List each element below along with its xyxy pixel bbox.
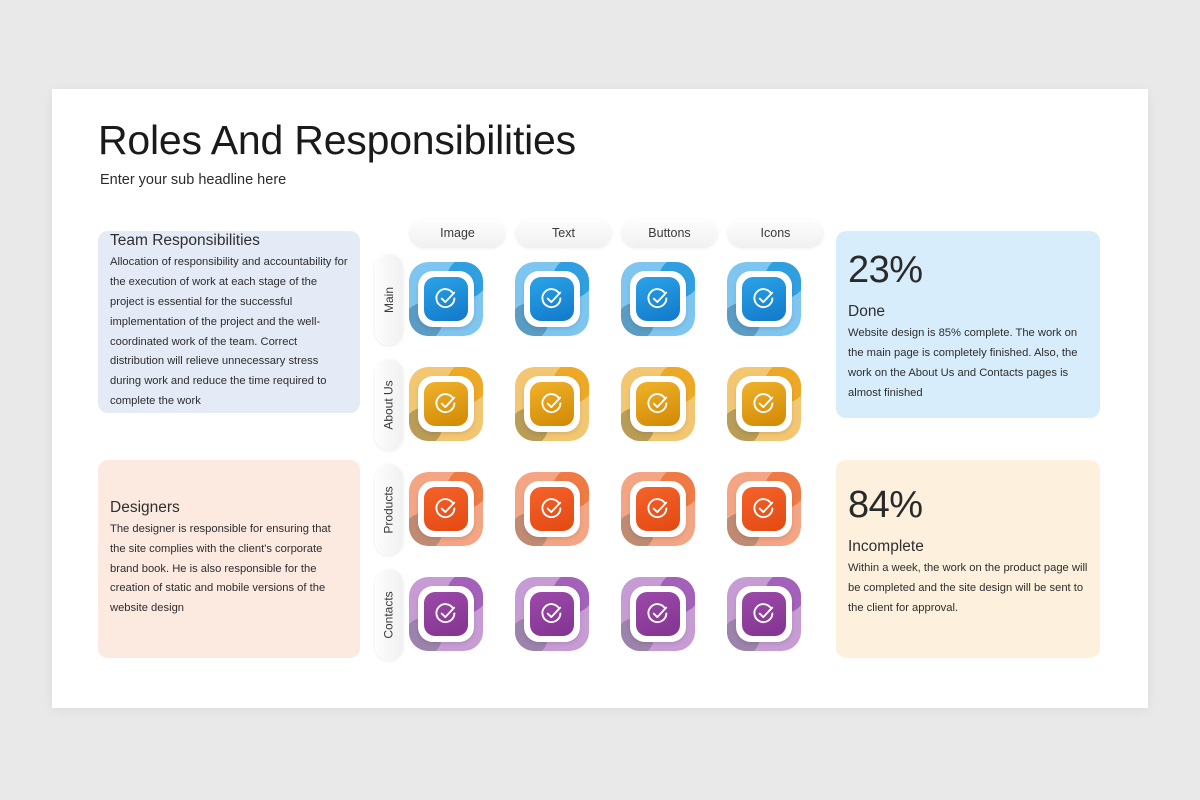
- check-circle-icon: [539, 286, 565, 312]
- column-header-label: Buttons: [648, 226, 690, 240]
- matrix-cell-products-image[interactable]: [409, 472, 483, 546]
- tile-inner: [636, 277, 680, 321]
- tile-inner: [742, 592, 786, 636]
- check-circle-icon: [751, 391, 777, 417]
- matrix-cell-contacts-image[interactable]: [409, 577, 483, 651]
- panel-designers: Designers The designer is responsible fo…: [98, 460, 360, 658]
- matrix-cell-products-icons[interactable]: [727, 472, 801, 546]
- column-header-text[interactable]: Text: [516, 219, 611, 247]
- tile-inner: [742, 382, 786, 426]
- panel-designers-heading: Designers: [110, 499, 348, 517]
- matrix-cell-main-image[interactable]: [409, 262, 483, 336]
- column-header-buttons[interactable]: Buttons: [622, 219, 717, 247]
- check-circle-icon: [539, 391, 565, 417]
- incomplete-percent: 84%: [848, 486, 1088, 526]
- tile-inner: [530, 277, 574, 321]
- panel-done-body: Website design is 85% complete. The work…: [848, 324, 1088, 404]
- panel-team-heading: Team Responsibilities: [110, 232, 348, 250]
- tile-inner: [742, 487, 786, 531]
- check-circle-icon: [539, 496, 565, 522]
- check-circle-icon: [433, 286, 459, 312]
- check-circle-icon: [751, 496, 777, 522]
- check-circle-icon: [645, 601, 671, 627]
- matrix-cell-products-text[interactable]: [515, 472, 589, 546]
- tile-inner: [530, 487, 574, 531]
- matrix-cell-about-us-image[interactable]: [409, 367, 483, 441]
- done-percent: 23%: [848, 251, 1088, 291]
- panel-incomplete: 84% Incomplete Within a week, the work o…: [836, 460, 1100, 658]
- matrix-cell-main-text[interactable]: [515, 262, 589, 336]
- check-circle-icon: [433, 601, 459, 627]
- page-title: Roles And Responsibilities: [98, 117, 576, 164]
- slide-canvas: Roles And Responsibilities Enter your su…: [52, 89, 1148, 708]
- row-header-about-us[interactable]: About Us: [375, 359, 403, 450]
- check-circle-icon: [751, 286, 777, 312]
- check-circle-icon: [645, 391, 671, 417]
- tile-inner: [742, 277, 786, 321]
- check-circle-icon: [645, 496, 671, 522]
- row-header-contacts[interactable]: Contacts: [375, 569, 403, 660]
- row-header-main[interactable]: Main: [375, 254, 403, 345]
- matrix-cell-about-us-buttons[interactable]: [621, 367, 695, 441]
- tile-inner: [424, 487, 468, 531]
- column-header-image[interactable]: Image: [410, 219, 505, 247]
- tile-inner: [530, 382, 574, 426]
- check-circle-icon: [645, 286, 671, 312]
- matrix-cell-main-icons[interactable]: [727, 262, 801, 336]
- tile-inner: [424, 382, 468, 426]
- matrix-cell-contacts-buttons[interactable]: [621, 577, 695, 651]
- matrix-cell-about-us-icons[interactable]: [727, 367, 801, 441]
- page-subtitle: Enter your sub headline here: [100, 172, 286, 188]
- matrix-cell-products-buttons[interactable]: [621, 472, 695, 546]
- tile-inner: [636, 382, 680, 426]
- tile-inner: [424, 277, 468, 321]
- matrix-cell-contacts-text[interactable]: [515, 577, 589, 651]
- tile-inner: [530, 592, 574, 636]
- column-header-icons[interactable]: Icons: [728, 219, 823, 247]
- matrix-cell-contacts-icons[interactable]: [727, 577, 801, 651]
- tile-inner: [636, 487, 680, 531]
- tile-inner: [424, 592, 468, 636]
- row-header-label: Main: [382, 286, 396, 312]
- panel-done: 23% Done Website design is 85% complete.…: [836, 231, 1100, 418]
- check-circle-icon: [433, 496, 459, 522]
- row-header-label: Products: [382, 486, 396, 533]
- column-header-label: Icons: [761, 226, 791, 240]
- row-header-label: Contacts: [382, 591, 396, 638]
- check-circle-icon: [539, 601, 565, 627]
- column-header-label: Image: [440, 226, 475, 240]
- panel-done-heading: Done: [848, 303, 1088, 321]
- row-header-label: About Us: [382, 380, 396, 429]
- panel-team-body: Allocation of responsibility and account…: [110, 253, 348, 413]
- check-circle-icon: [751, 601, 777, 627]
- row-header-products[interactable]: Products: [375, 464, 403, 555]
- check-circle-icon: [433, 391, 459, 417]
- matrix-cell-about-us-text[interactable]: [515, 367, 589, 441]
- matrix-cell-main-buttons[interactable]: [621, 262, 695, 336]
- panel-team-responsibilities: Team Responsibilities Allocation of resp…: [98, 231, 360, 413]
- column-header-label: Text: [552, 226, 575, 240]
- panel-incomplete-body: Within a week, the work on the product p…: [848, 559, 1088, 619]
- panel-designers-body: The designer is responsible for ensuring…: [110, 520, 348, 620]
- panel-incomplete-heading: Incomplete: [848, 538, 1088, 556]
- tile-inner: [636, 592, 680, 636]
